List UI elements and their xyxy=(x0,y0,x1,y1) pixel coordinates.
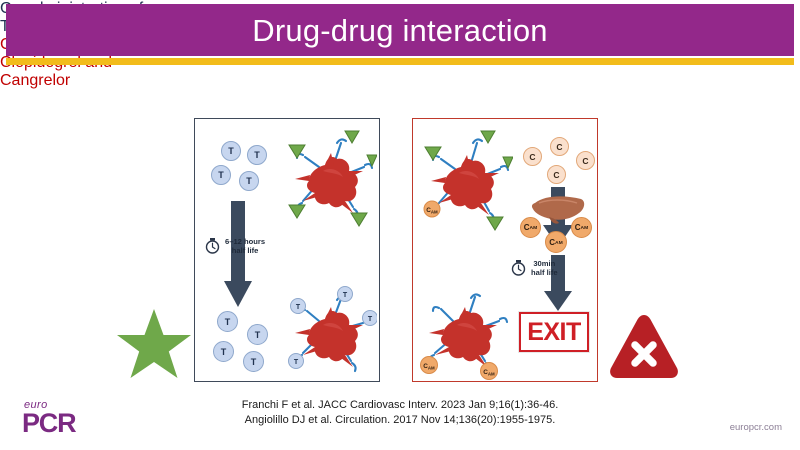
platelet-ticagrelor-bound-bottom: T T T T xyxy=(279,285,377,385)
page-title: Drug-drug interaction xyxy=(252,15,547,46)
citation-line-2: Angiolillo DJ et al. Circulation. 2017 N… xyxy=(150,413,650,428)
half-life-right: 30min half life xyxy=(511,259,558,278)
half-life-left-caption: half life xyxy=(232,246,259,255)
clopidogrel-molecule: C xyxy=(523,147,542,166)
half-life-left: 6–12 hours half life xyxy=(205,237,265,256)
red-cross-triangle-icon xyxy=(608,312,680,380)
ticagrelor-molecule: T xyxy=(221,141,241,161)
platelet-cangrelor-bound-top-right: CAM xyxy=(415,129,513,241)
stopwatch-icon xyxy=(205,238,220,254)
clopidogrel-molecule: C xyxy=(550,137,569,156)
citations: Franchi F et al. JACC Cardiovasc Interv.… xyxy=(150,398,650,428)
exit-sign-label: EXIT xyxy=(527,320,581,345)
clopidogrel-active-metabolite: CAM xyxy=(571,217,592,238)
clopidogrel-active-metabolite: CAM xyxy=(520,217,541,238)
clopidogrel-molecule: C xyxy=(547,165,566,184)
clopidogrel-active-metabolite: CAM xyxy=(545,231,567,253)
platelet-unbound-bottom-right: CAM CAM xyxy=(413,285,513,385)
ticagrelor-molecule: T xyxy=(247,145,267,165)
stopwatch-icon xyxy=(511,260,526,276)
europcr-logo: euro PCR xyxy=(22,400,112,437)
citation-line-1: Franchi F et al. JACC Cardiovasc Interv.… xyxy=(150,398,650,413)
left-diagram-panel: T T T T xyxy=(194,118,380,382)
half-life-right-value: 30min xyxy=(533,259,555,268)
ticagrelor-molecule: T xyxy=(217,311,238,332)
svg-text:T: T xyxy=(296,304,301,311)
svg-text:T: T xyxy=(294,359,299,366)
green-star-icon xyxy=(116,307,192,381)
half-life-right-caption: half life xyxy=(531,268,558,277)
ticagrelor-molecule: T xyxy=(243,351,264,372)
ticagrelor-molecule: T xyxy=(239,171,259,191)
platelet-cangrelor-bound-top xyxy=(279,127,377,237)
clopidogrel-molecule: C xyxy=(576,151,595,170)
exit-sign: EXIT xyxy=(519,312,589,352)
svg-text:T: T xyxy=(343,292,348,299)
svg-text:T: T xyxy=(368,316,373,323)
logo-pcr-text: PCR xyxy=(22,410,112,437)
half-life-left-value: 6–12 hours xyxy=(225,237,265,246)
title-accent-stripe xyxy=(6,58,794,65)
ticagrelor-molecule: T xyxy=(247,324,268,345)
website-url: europcr.com xyxy=(730,422,782,433)
ticagrelor-molecule: T xyxy=(213,341,234,362)
slide-title-bar: Drug-drug interaction xyxy=(6,4,794,56)
ticagrelor-molecule: T xyxy=(211,165,231,185)
